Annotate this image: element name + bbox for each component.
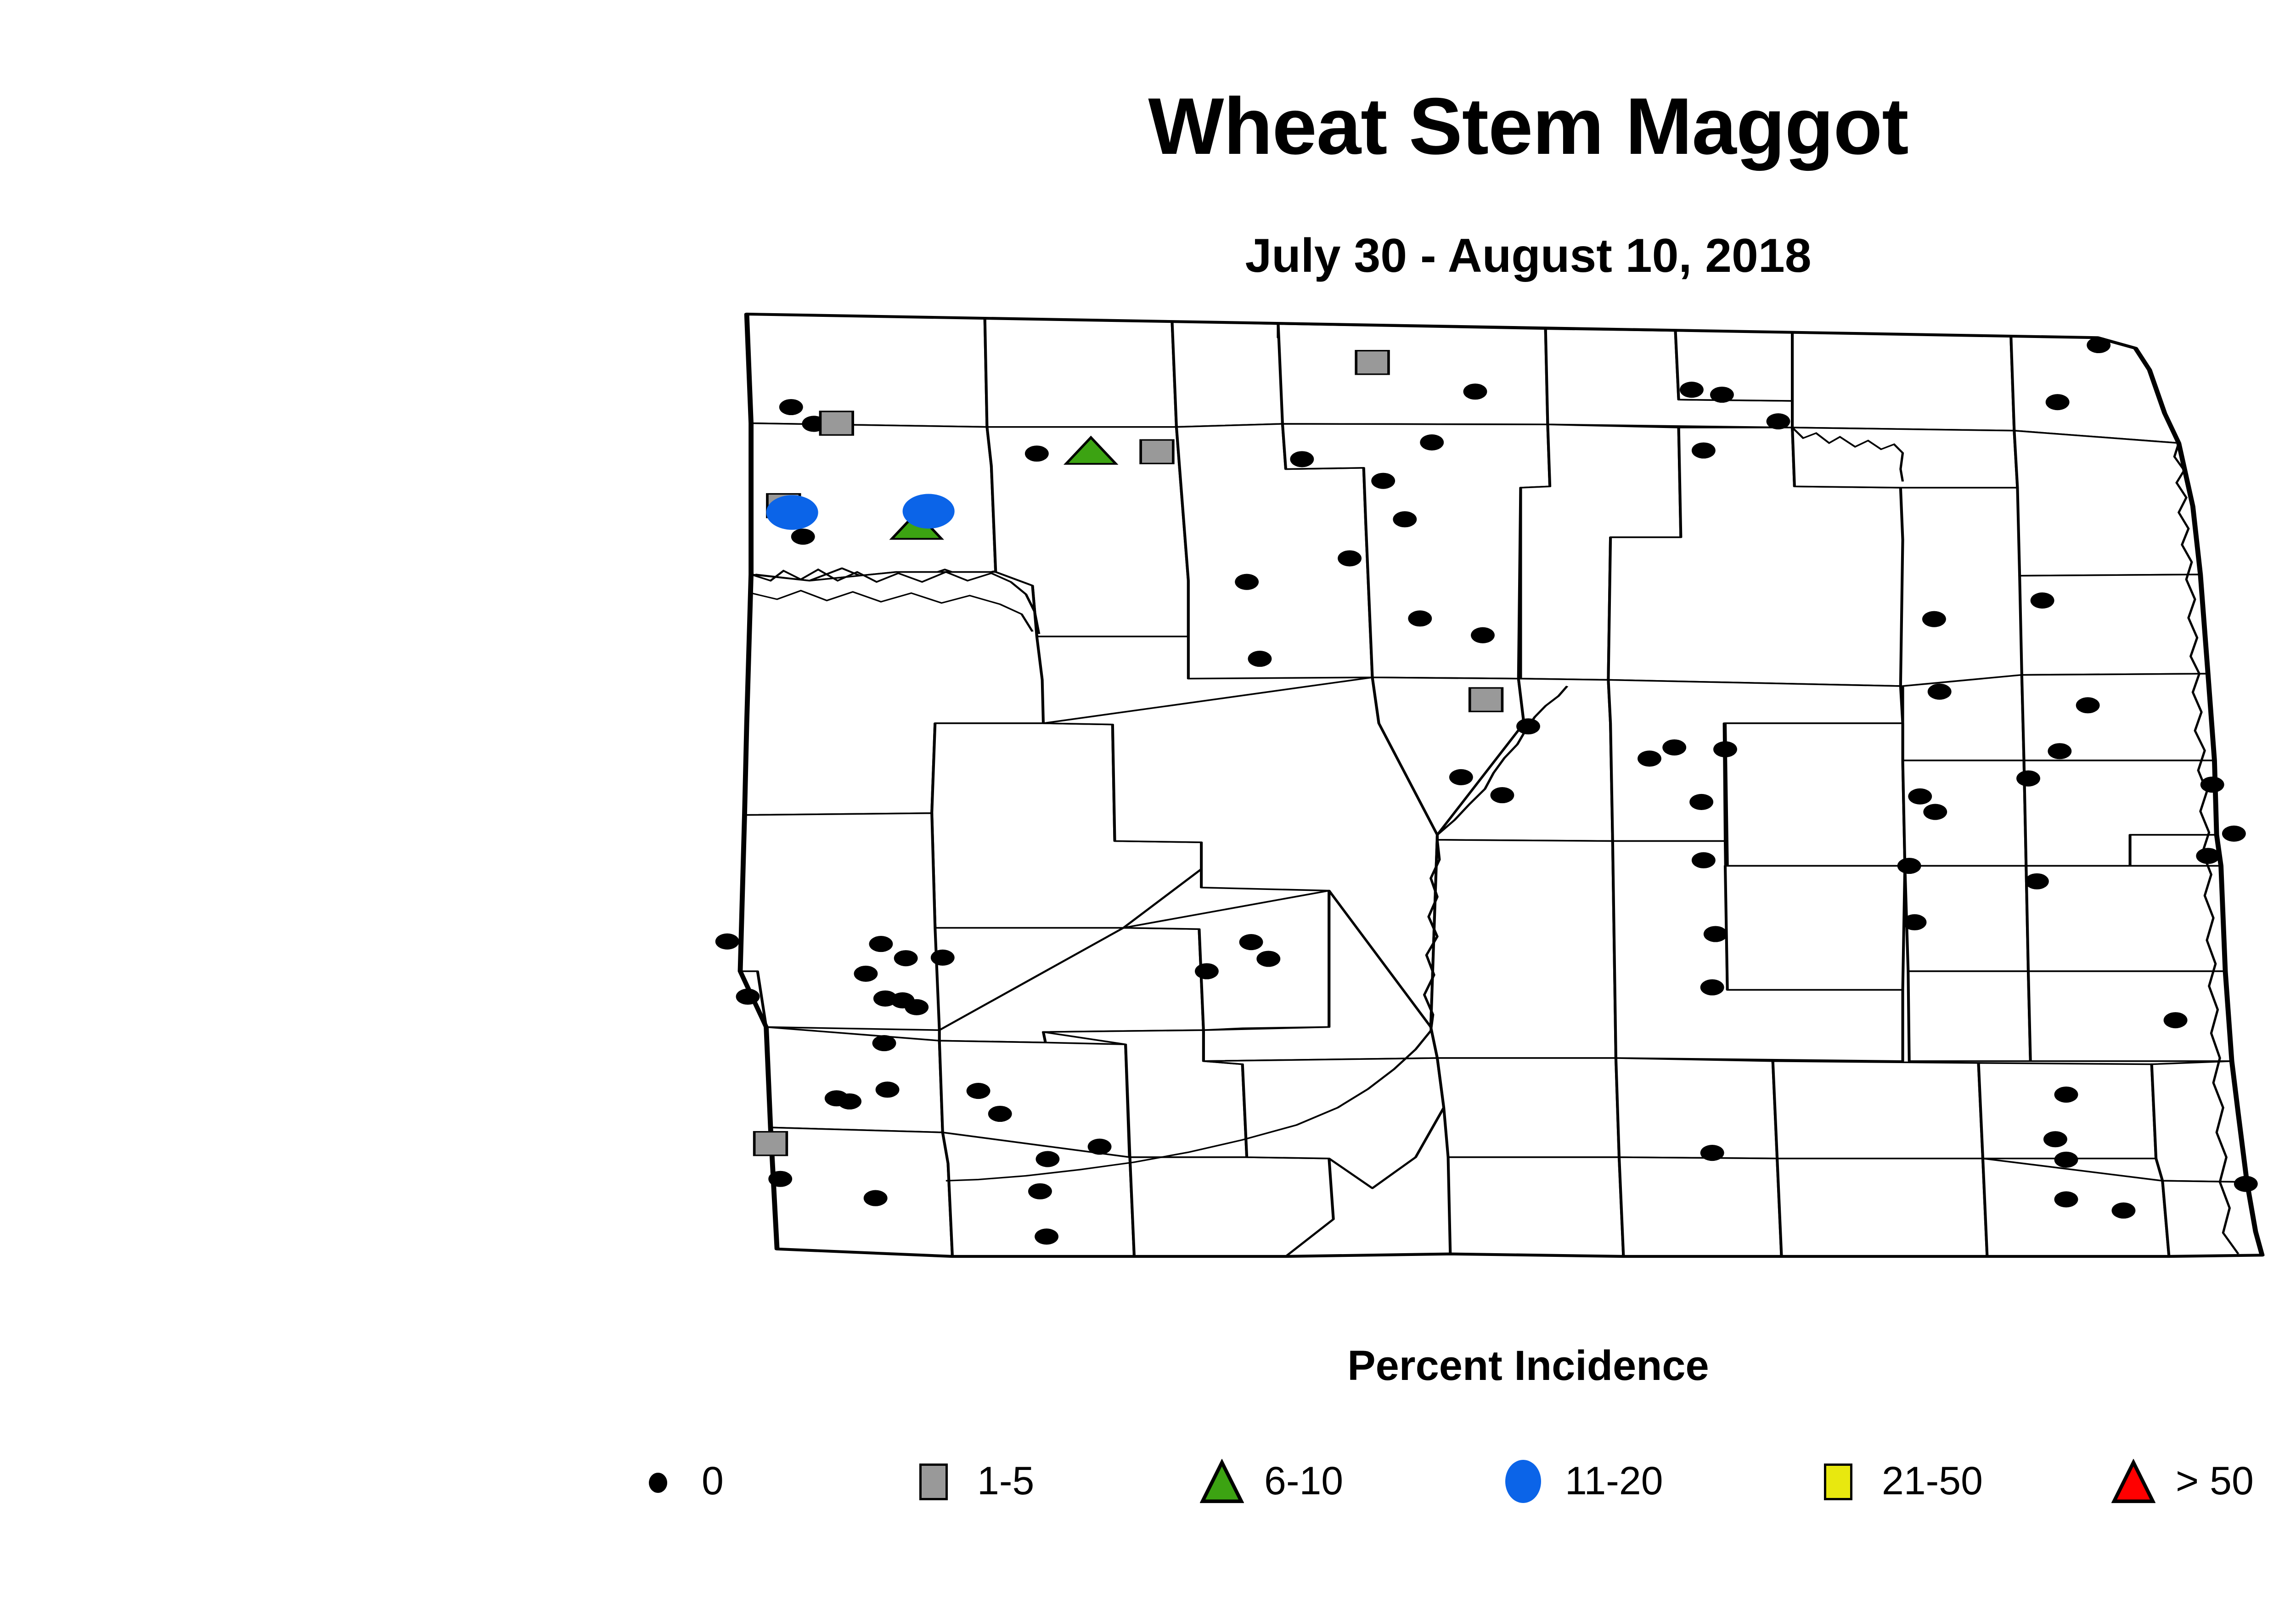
- legend-label-1: 1-5: [977, 1461, 1034, 1501]
- map-marker: [2048, 743, 2071, 759]
- map-marker: [1449, 769, 1473, 785]
- map-marker: [2016, 771, 2040, 787]
- map-marker: [1290, 451, 1314, 467]
- map-marker: [1195, 963, 1219, 979]
- map-marker: [768, 1171, 792, 1187]
- map-marker: [1692, 442, 1716, 458]
- map-marker: [1903, 914, 1927, 930]
- map-marker: [1491, 787, 1514, 803]
- map-marker: [736, 989, 760, 1005]
- map-marker: [876, 1081, 900, 1098]
- map-marker: [1028, 1183, 1052, 1199]
- map-marker: [2054, 1152, 2078, 1168]
- map-marker: [1248, 651, 1272, 667]
- map-marker: [838, 1093, 861, 1109]
- map-marker: [1662, 739, 1686, 755]
- map-marker: [2222, 826, 2246, 842]
- legend-label-4: 21-50: [1882, 1461, 1983, 1501]
- map-marker: [894, 950, 918, 966]
- map-marker: [1700, 1145, 1724, 1161]
- map-marker: [1088, 1139, 1112, 1155]
- legend-label-2: 6-10: [1264, 1461, 1343, 1501]
- page-title: Wheat Stem Maggot: [0, 86, 2296, 167]
- map-marker: [1516, 718, 1540, 734]
- map-marker: [1025, 445, 1049, 462]
- map-marker: [869, 936, 893, 952]
- map-marker: [2025, 873, 2049, 889]
- map-marker: [1710, 387, 1734, 403]
- map-marker: [1356, 351, 1389, 374]
- map-marker: [905, 999, 929, 1015]
- red-triangle-icon: [2108, 1449, 2158, 1513]
- map-marker: [1692, 852, 1716, 868]
- blue-circle-icon: [1497, 1449, 1548, 1513]
- map-svg[interactable]: [680, 289, 2296, 1281]
- map-marker: [1393, 511, 1417, 527]
- page-subtitle: July 30 - August 10, 2018: [0, 232, 2296, 280]
- map-marker: [2043, 1131, 2067, 1147]
- map-marker: [1141, 440, 1173, 463]
- map-marker: [1704, 926, 1728, 942]
- map-marker: [1700, 980, 1724, 996]
- legend-item-4[interactable]: 21-50: [1814, 1437, 1983, 1525]
- black-dot-icon: [634, 1449, 684, 1513]
- map-marker: [1036, 1151, 1060, 1167]
- map-marker: [931, 950, 955, 966]
- legend-item-2[interactable]: 6-10: [1196, 1437, 1343, 1525]
- map-marker: [2112, 1203, 2136, 1219]
- map-marker: [2046, 394, 2070, 410]
- map-marker: [967, 1083, 990, 1099]
- legend-title: Percent Incidence: [0, 1345, 2296, 1387]
- legend: 0 1-5 6-10 11-20 21-50 > 50: [634, 1437, 2296, 1525]
- map-marker: [1035, 1228, 1058, 1244]
- map-marker: [754, 1132, 787, 1155]
- map-marker: [1908, 788, 1932, 805]
- map-marker: [2234, 1176, 2258, 1192]
- legend-item-1[interactable]: 1-5: [909, 1437, 1034, 1525]
- map-marker: [872, 1035, 896, 1051]
- map-marker: [2196, 848, 2220, 864]
- map-marker: [2076, 697, 2100, 713]
- map-marker: [2054, 1191, 2078, 1207]
- map-marker: [791, 529, 815, 545]
- map-marker: [1680, 382, 1704, 398]
- yellow-square-icon: [1814, 1449, 1864, 1513]
- map-marker: [2200, 777, 2224, 793]
- map-marker: [1767, 413, 1790, 429]
- legend-item-3[interactable]: 11-20: [1497, 1437, 1663, 1525]
- map-marker: [1713, 741, 1737, 757]
- legend-label-0: 0: [702, 1461, 724, 1501]
- map-marker: [854, 966, 878, 982]
- map-marker: [2031, 592, 2054, 608]
- map-marker: [1689, 794, 1713, 810]
- map-marker: [1338, 550, 1362, 566]
- map-marker: [1256, 951, 1280, 967]
- map-marker: [1638, 750, 1661, 766]
- legend-label-3: 11-20: [1565, 1461, 1663, 1501]
- map-marker: [766, 495, 818, 530]
- map-marker: [715, 934, 739, 950]
- map-marker: [1897, 858, 1921, 874]
- map-marker: [1463, 383, 1487, 400]
- map-marker: [1922, 611, 1946, 627]
- legend-item-0[interactable]: 0: [634, 1437, 724, 1525]
- map-marker: [779, 399, 803, 415]
- legend-label-5: > 50: [2176, 1461, 2254, 1501]
- map-marker: [1420, 434, 1444, 450]
- map-figure: Wheat Stem Maggot July 30 - August 10, 2…: [0, 0, 2296, 1610]
- map-marker: [2164, 1012, 2188, 1028]
- map-marker: [1923, 804, 1947, 820]
- legend-item-5[interactable]: > 50: [2108, 1437, 2254, 1525]
- map-marker: [1408, 610, 1432, 626]
- green-triangle-icon: [1196, 1449, 1247, 1513]
- map-marker: [1928, 684, 1952, 700]
- map-marker: [903, 494, 955, 529]
- map-marker: [2054, 1086, 2078, 1103]
- map-marker: [1239, 934, 1263, 950]
- map-marker: [820, 411, 853, 435]
- gray-square-icon: [909, 1449, 960, 1513]
- map-marker: [1471, 627, 1495, 643]
- map-marker: [2087, 337, 2110, 353]
- north-dakota-map[interactable]: [680, 289, 2296, 1281]
- map-marker: [1470, 688, 1503, 711]
- map-marker: [988, 1106, 1012, 1122]
- map-marker: [1371, 473, 1395, 489]
- map-marker: [1235, 574, 1259, 590]
- map-marker: [864, 1190, 888, 1206]
